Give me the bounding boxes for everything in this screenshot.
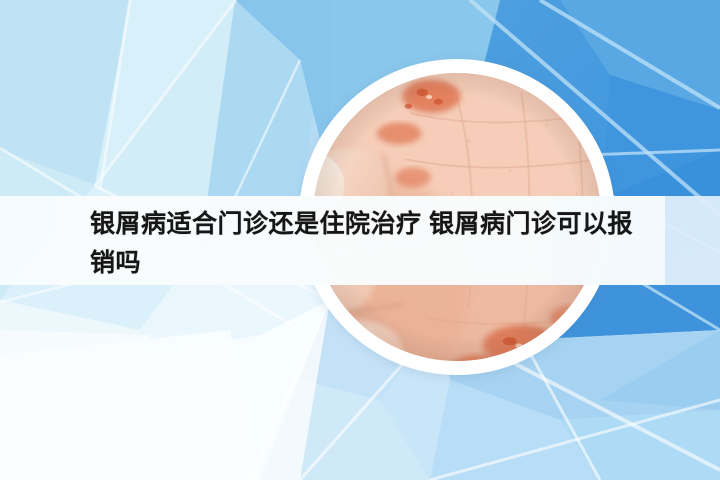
article-banner: 银屑病适合门诊还是住院治疗 银屑病门诊可以报销吗 [0, 0, 720, 480]
page-title: 银屑病适合门诊还是住院治疗 银屑病门诊可以报销吗 [90, 205, 650, 283]
